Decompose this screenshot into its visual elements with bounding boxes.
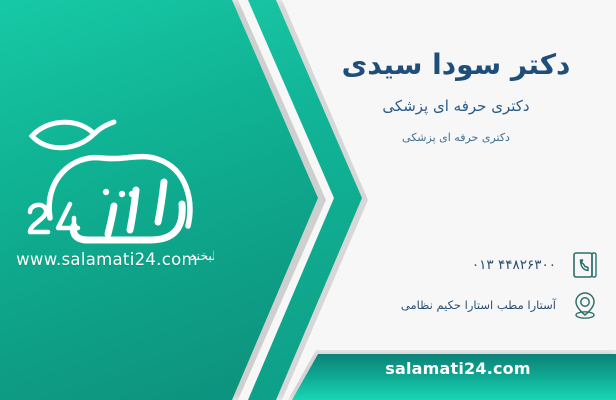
doctor-name: دکتر سودا سیدی bbox=[314, 46, 598, 84]
logo-wordmark-dots bbox=[103, 189, 135, 197]
contact-row-phone[interactable]: ۴۴۸۲۶۳۰۰ ۰۱۳ bbox=[472, 248, 602, 282]
specialty-primary: دکتری حرفه ای پزشکی bbox=[314, 95, 598, 118]
clinic-address: آستارا مطب استارا حکیم نظامی bbox=[401, 297, 556, 313]
contact-row-address[interactable]: آستارا مطب استارا حکیم نظامی bbox=[401, 288, 602, 322]
location-pin-icon bbox=[568, 288, 602, 322]
specialty-secondary: دکتری حرفه ای پزشکی bbox=[314, 130, 598, 147]
phone-number: ۴۴۸۲۶۳۰۰ ۰۱۳ bbox=[472, 256, 556, 275]
apple-leaf-icon bbox=[32, 122, 114, 148]
business-card: برای یک لبخند www.salamati24.com دکتر سو… bbox=[0, 0, 616, 400]
footer-website[interactable]: salamati24.com bbox=[300, 354, 616, 400]
apple-outline-icon bbox=[49, 157, 190, 226]
card-content: دکتر سودا سیدی دکتری حرفه ای پزشکی دکتری… bbox=[296, 0, 616, 400]
phone-book-icon bbox=[568, 248, 602, 282]
logo-wordmark-salamati bbox=[74, 182, 183, 240]
logo-url: www.salamati24.com bbox=[12, 250, 202, 269]
